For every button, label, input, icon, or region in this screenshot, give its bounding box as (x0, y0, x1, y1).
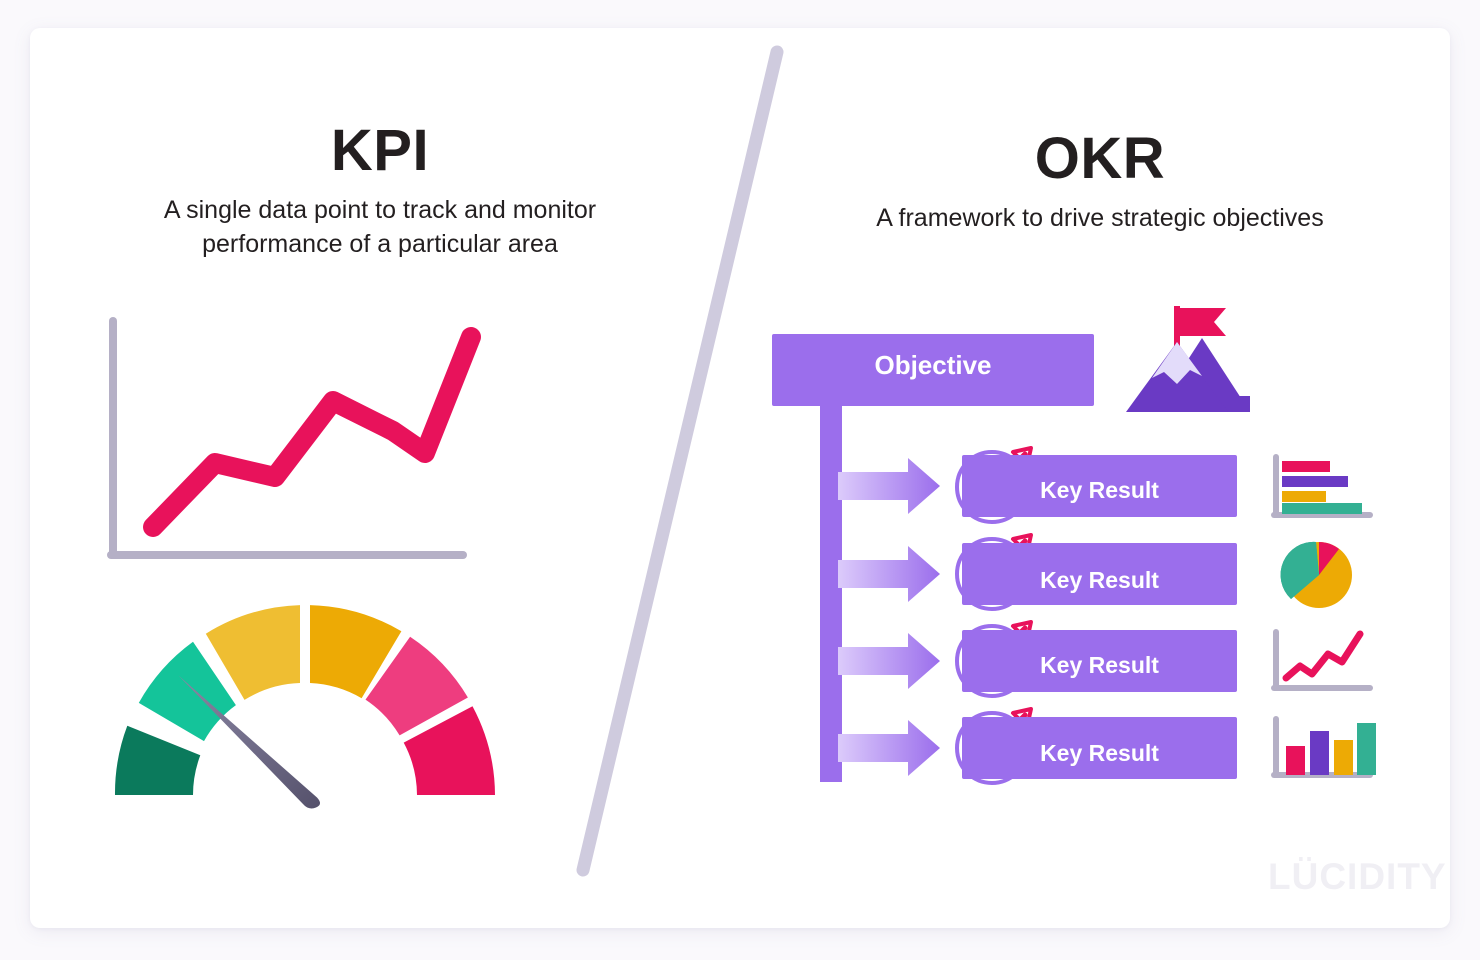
line-chart-icon (1274, 632, 1370, 688)
bar-chart-horizontal-icon (1274, 457, 1370, 515)
gauge-segments (115, 605, 495, 795)
kpi-subtitle-line-1: A single data point to track and monitor (60, 194, 700, 228)
okr-branch-arrow-1 (838, 458, 940, 514)
okr-column-header: OKR A framework to drive strategic objec… (790, 130, 1410, 236)
key-result-box-3[interactable] (962, 630, 1237, 692)
key-result-box-2[interactable] (962, 543, 1237, 605)
key-result-box-4[interactable] (962, 717, 1237, 779)
mountain-flag-icon (1126, 306, 1250, 412)
okr-branch-arrow-4 (838, 720, 940, 776)
kpi-column-header: KPI A single data point to track and mon… (60, 122, 700, 262)
objective-box[interactable] (772, 334, 1094, 406)
line-series (153, 337, 471, 527)
column-chart-icon (1274, 719, 1376, 775)
lucidity-logo: LÜCIDITY (1268, 856, 1447, 898)
kpi-gauge-chart (105, 595, 505, 810)
okr-branch-arrow-2 (838, 546, 940, 602)
pie-chart-icon (1281, 542, 1352, 608)
okr-diagram (772, 292, 1412, 802)
kpi-subtitle-line-2: performance of a particular area (60, 228, 700, 262)
okr-subtitle: A framework to drive strategic objective… (790, 202, 1410, 236)
okr-spine-connector (820, 402, 842, 782)
okr-branch-arrow-3 (838, 633, 940, 689)
kpi-line-chart (105, 315, 485, 565)
kpi-title: KPI (60, 122, 700, 180)
key-result-box-1[interactable] (962, 455, 1237, 517)
infographic-root: KPI A single data point to track and mon… (0, 0, 1480, 960)
gauge-segment-1 (115, 726, 200, 795)
okr-title: OKR (790, 130, 1410, 188)
